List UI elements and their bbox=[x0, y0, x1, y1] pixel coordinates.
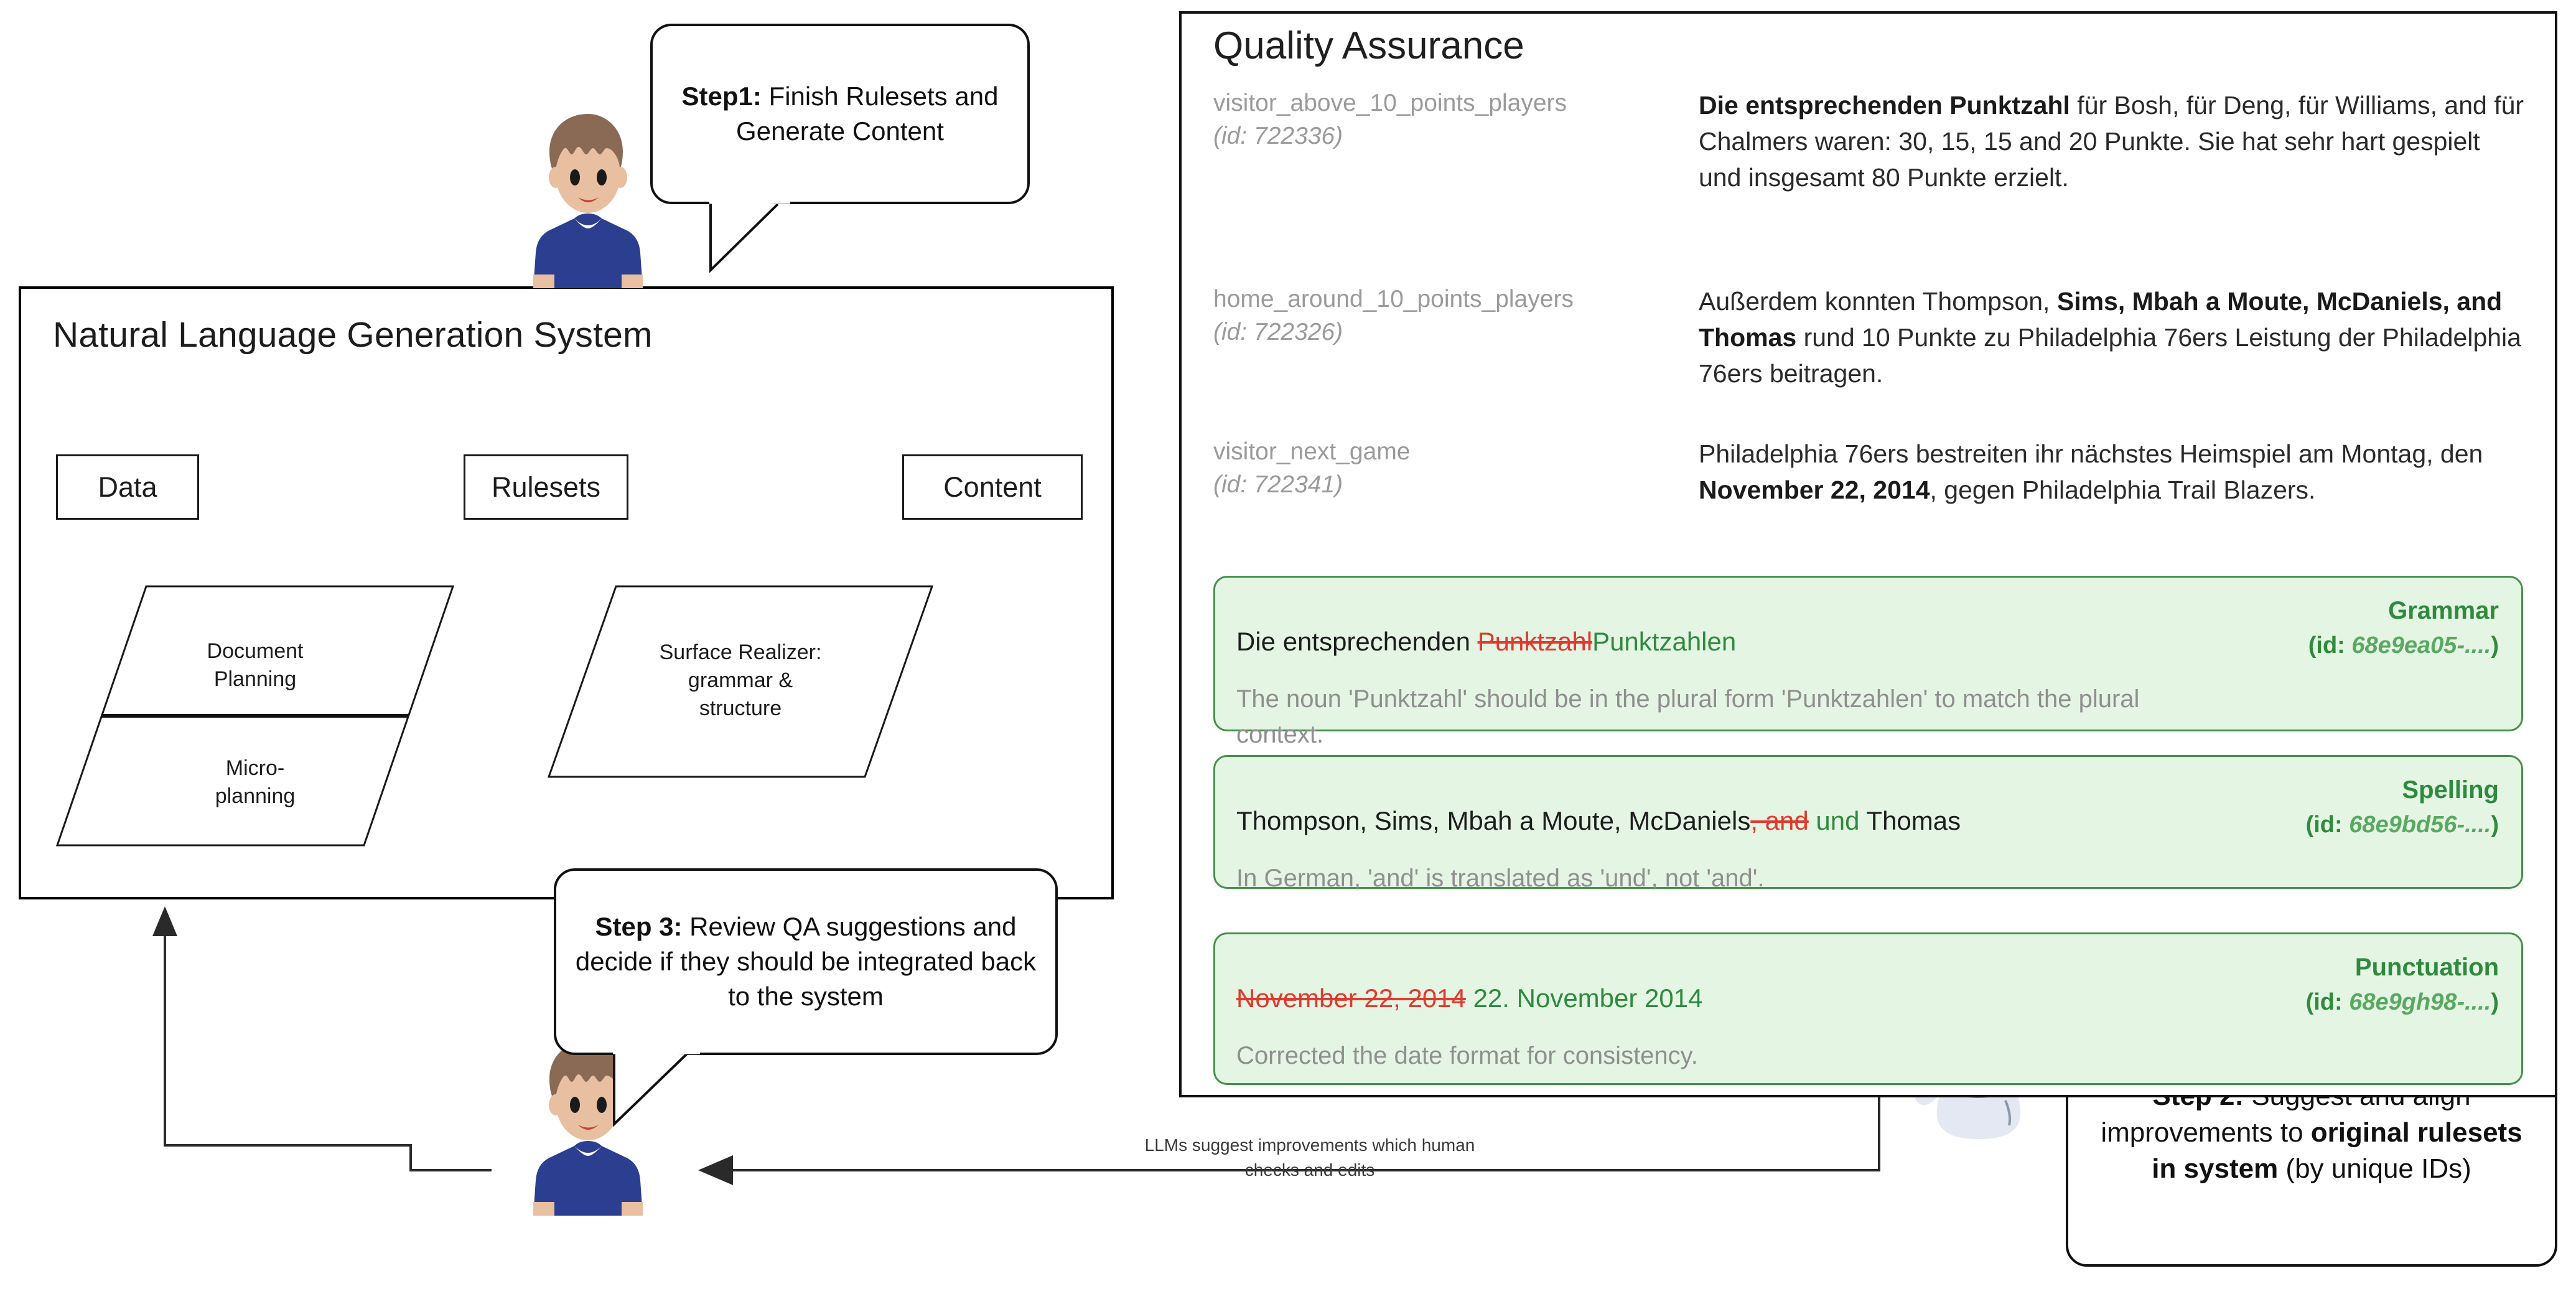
flow-node-surface-realizer-label: Surface Realizer:grammar &structure bbox=[548, 639, 933, 723]
diff-deleted: Punktzahl bbox=[1478, 627, 1592, 656]
flow-node-document-planning-label: DocumentPlanning bbox=[56, 637, 454, 693]
flow-node-surface-realizer-parallelogram[interactable]: Surface Realizer:grammar &structure bbox=[548, 585, 933, 778]
qa-entry-id: (id: 722341) bbox=[1213, 469, 1685, 502]
qa-entry-key: visitor_next_game (id: 722341) bbox=[1213, 436, 1699, 508]
qa-suggestion-explanation: In German, 'and' is translated as 'und',… bbox=[1236, 861, 2207, 896]
qa-entry-key: home_around_10_points_players (id: 72232… bbox=[1213, 283, 1699, 392]
qa-suggestion-card[interactable]: Grammar (id: 68e9ea05-....) Die entsprec… bbox=[1213, 576, 2523, 731]
qa-entry-rest: rund 10 Punkte zu Philadelphia 76ers Lei… bbox=[1699, 323, 2521, 388]
qa-suggestion-explanation: The noun 'Punktzahl' should be in the pl… bbox=[1236, 682, 2207, 753]
qa-entry-prefix: Außerdem konnten Thompson, bbox=[1699, 287, 2057, 316]
quality-assurance-title: Quality Assurance bbox=[1213, 24, 1524, 68]
step3-lead: Step 3: bbox=[595, 912, 682, 941]
step1-lead: Step1: bbox=[682, 82, 762, 111]
flow-node-micro-planning-label: Micro-planning bbox=[56, 754, 454, 810]
step2-tail: (by unique IDs) bbox=[2278, 1153, 2471, 1184]
qa-suggestion-category: Punctuation (id: 68e9gh98-....) bbox=[2306, 949, 2499, 1020]
qa-suggestion-category: Grammar (id: 68e9ea05-....) bbox=[2308, 593, 2499, 663]
diff-context: Die entsprechenden bbox=[1236, 627, 1478, 656]
qa-suggestion-id: (id: 68e9gh98-....) bbox=[2306, 985, 2499, 1020]
speech-bubble-step1: Step1: Finish Rulesets and Generate Cont… bbox=[650, 24, 1030, 204]
qa-entry-row[interactable]: home_around_10_points_players (id: 72232… bbox=[1213, 283, 2526, 392]
diff-deleted: November 22, 2014 bbox=[1236, 983, 1466, 1013]
diff-suffix: Thomas bbox=[1860, 806, 1961, 835]
person-avatar-icon bbox=[526, 103, 650, 289]
diff-inserted: Punktzahlen bbox=[1592, 627, 1736, 656]
qa-entry-value: Philadelphia 76ers bestreiten ihr nächst… bbox=[1699, 436, 2526, 508]
diff-inserted: 22. November 2014 bbox=[1466, 983, 1703, 1013]
qa-entry-id: (id: 722336) bbox=[1213, 120, 1685, 153]
flow-node-data[interactable]: Data bbox=[56, 454, 199, 520]
flow-node-data-label: Data bbox=[98, 471, 157, 504]
qa-suggestion-card[interactable]: Spelling (id: 68e9bd56-....) Thompson, S… bbox=[1213, 755, 2523, 889]
qa-entry-id: (id: 722326) bbox=[1213, 316, 1685, 349]
flow-label-llm-suggestions: LLMs suggest improvements which human ch… bbox=[1123, 1133, 1496, 1183]
step1-text: Finish Rulesets and Generate Content bbox=[736, 82, 998, 146]
qa-entry-row[interactable]: visitor_above_10_points_players (id: 722… bbox=[1213, 87, 2526, 196]
flow-node-content[interactable]: Content bbox=[902, 454, 1083, 520]
flow-node-rulesets[interactable]: Rulesets bbox=[464, 454, 628, 520]
qa-entry-bold-prefix: Die entsprechenden Punktzahl bbox=[1699, 91, 2070, 120]
qa-entry-value: Außerdem konnten Thompson, Sims, Mbah a … bbox=[1699, 283, 2526, 392]
diff-context: Thompson, Sims, Mbah a Moute, McDaniels bbox=[1236, 806, 1750, 835]
diff-deleted: , and bbox=[1750, 806, 1808, 835]
qa-suggestion-id: (id: 68e9ea05-....) bbox=[2308, 629, 2499, 663]
qa-entry-rest: , gegen Philadelphia Trail Blazers. bbox=[1930, 476, 2316, 504]
speech-bubble-step3-tail bbox=[613, 1051, 737, 1129]
qa-suggestion-id: (id: 68e9bd56-....) bbox=[2306, 808, 2499, 842]
diff-inserted: und bbox=[1809, 806, 1860, 835]
speech-bubble-step1-tail bbox=[709, 200, 821, 275]
qa-suggestion-explanation: Corrected the date format for consistenc… bbox=[1236, 1038, 2207, 1074]
flow-node-content-label: Content bbox=[943, 471, 1042, 504]
qa-entry-key: visitor_above_10_points_players (id: 722… bbox=[1213, 87, 1699, 196]
qa-entry-prefix: Philadelphia 76ers bestreiten ihr nächst… bbox=[1699, 439, 2483, 468]
qa-entry-row[interactable]: visitor_next_game (id: 722341) Philadelp… bbox=[1213, 436, 2526, 508]
nlg-system-title: Natural Language Generation System bbox=[53, 314, 653, 355]
qa-suggestion-card[interactable]: Punctuation (id: 68e9gh98-....) November… bbox=[1213, 932, 2523, 1085]
qa-entry-bold-mid: November 22, 2014 bbox=[1699, 476, 1930, 504]
flow-node-planning-parallelogram[interactable]: DocumentPlanning Micro-planning bbox=[56, 585, 454, 847]
speech-bubble-step3: Step 3: Review QA suggestions and decide… bbox=[554, 868, 1058, 1055]
qa-suggestion-category: Spelling (id: 68e9bd56-....) bbox=[2306, 772, 2499, 842]
qa-entry-value: Die entsprechenden Punktzahl für Bosh, f… bbox=[1699, 87, 2526, 196]
flow-node-rulesets-label: Rulesets bbox=[492, 471, 600, 504]
